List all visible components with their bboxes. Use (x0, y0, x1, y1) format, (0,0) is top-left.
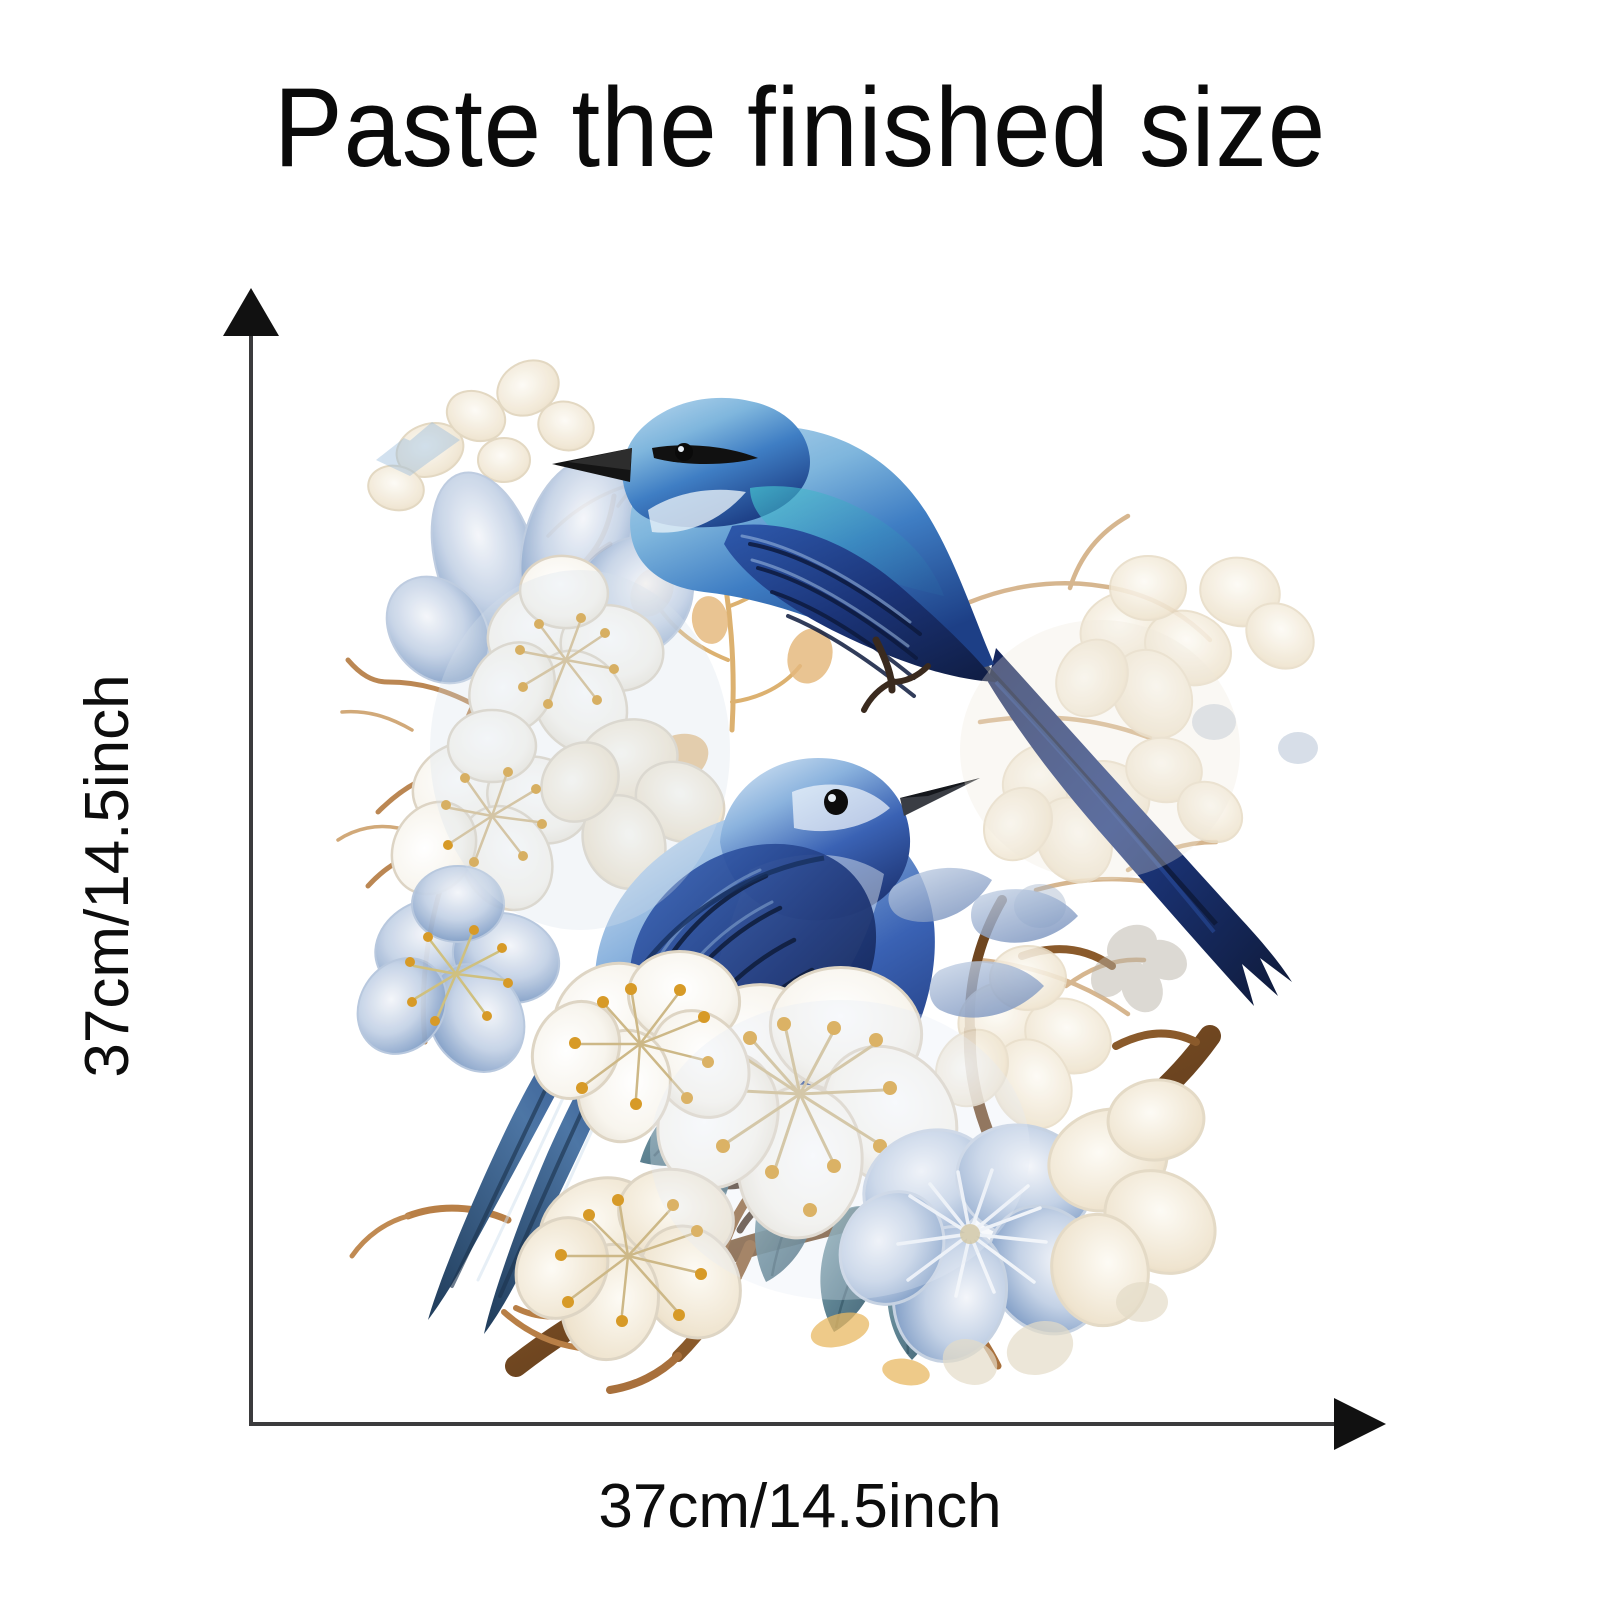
artwork-illustration (280, 330, 1340, 1400)
horizontal-dimension-label: 37cm/14.5inch (250, 1476, 1350, 1538)
page-title: Paste the finished size (64, 72, 1536, 184)
vertical-dimension-label: 37cm/14.5inch (77, 646, 139, 1106)
vertical-axis-line (249, 330, 253, 1426)
vertical-axis-arrow-icon (223, 288, 279, 336)
horizontal-axis-arrow-icon (1334, 1398, 1386, 1450)
horizontal-axis-line (249, 1422, 1349, 1426)
